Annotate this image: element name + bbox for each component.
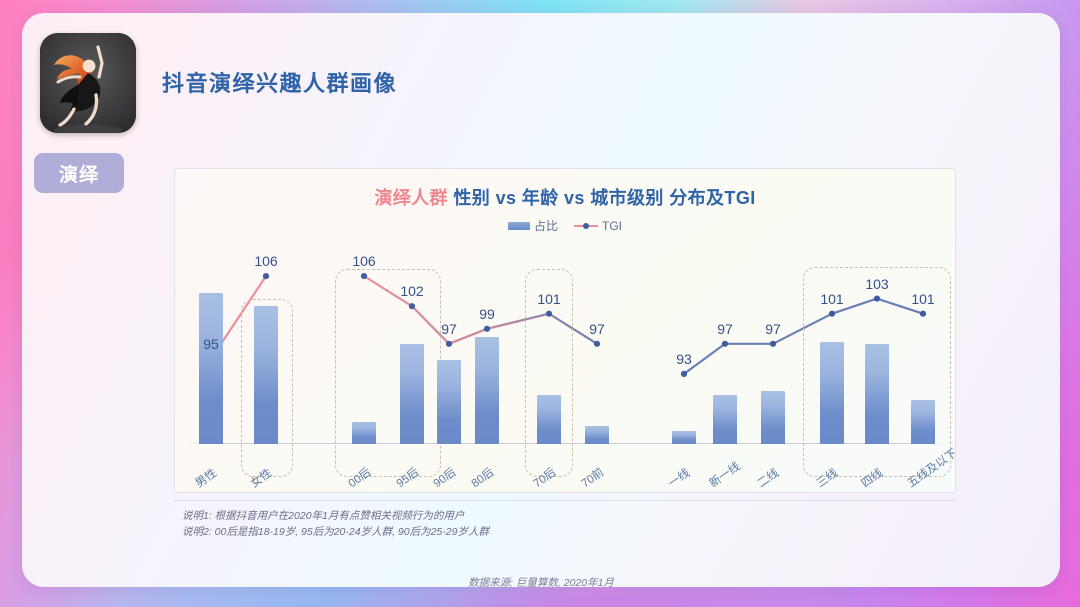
tgi-point-四线[interactable] [874,296,880,302]
x-axis-label-90后: 90后 [430,464,459,491]
chart-title-rest: 性别 vs 年龄 vs 城市级别 分布及TGI [453,188,755,208]
x-axis-label-四线: 四线 [858,465,886,491]
bar-新一线[interactable] [713,395,737,444]
tgi-value-label-新一线: 97 [717,321,733,337]
bar-95后[interactable] [400,344,424,444]
x-axis-label-一线: 一线 [665,465,693,491]
x-axis-label-男性: 男性 [192,465,220,491]
bar-70前[interactable] [585,426,609,444]
tgi-value-label-四线: 103 [865,276,888,292]
tgi-point-70后[interactable] [546,311,552,317]
x-axis-label-新一线: 新一线 [706,458,743,491]
category-tag: 演绎 [34,153,124,193]
tgi-value-label-二线: 97 [765,321,781,337]
bar-五线及以下[interactable] [911,400,935,444]
data-source: 数据来源: 巨量算数, 2020年1月 [22,575,1060,587]
tgi-point-70前[interactable] [594,341,600,347]
x-axis-label-00后: 00后 [345,464,374,491]
tgi-value-label-五线及以下: 101 [911,291,934,307]
tgi-value-label-70前: 97 [589,321,605,337]
bar-swatch-icon [508,222,530,230]
bar-二线[interactable] [761,391,785,444]
tgi-value-label-00后: 106 [352,253,375,269]
x-axis-label-女性: 女性 [247,465,275,491]
dancer-thumbnail [40,33,136,133]
legend-item-share[interactable]: 占比 [508,217,558,234]
tgi-point-二线[interactable] [770,341,776,347]
tgi-value-label-一线: 93 [676,351,692,367]
legend-item-tgi[interactable]: TGI [574,219,622,233]
x-axis-label-70前: 70前 [578,464,607,491]
chart-panel: 演绎人群 性别 vs 年龄 vs 城市级别 分布及TGI 占比 TGI 9510… [174,168,956,493]
slide-card: 演绎 抖音演绎兴趣人群画像 演绎人群 性别 vs 年龄 vs 城市级别 分布及T… [22,13,1060,587]
x-axis-label-三线: 三线 [813,465,841,491]
note-line-1: 说明1: 根据抖音用户在2020年1月有点赞相关视频行为的用户 [182,508,489,524]
chart-title-highlight: 演绎人群 [374,188,448,208]
tgi-point-新一线[interactable] [722,341,728,347]
bar-男性[interactable] [199,293,223,444]
tgi-point-三线[interactable] [829,311,835,317]
chart-title: 演绎人群 性别 vs 年龄 vs 城市级别 分布及TGI [175,184,955,210]
bar-00后[interactable] [352,422,376,444]
tgi-value-label-70后: 101 [537,291,560,307]
tgi-value-label-三线: 101 [820,291,843,307]
tgi-value-label-80后: 99 [479,306,495,322]
tgi-point-80后[interactable] [484,326,490,332]
x-axis-label-五线及以下: 五线及以下 [904,445,960,491]
tgi-value-label-女性: 106 [254,253,277,269]
plot-area: 95106106102979910197939797101103101男性女性0… [187,239,945,491]
legend-label-tgi: TGI [602,219,622,233]
line-swatch-icon [574,221,598,231]
bar-三线[interactable] [820,342,844,444]
tgi-point-90后[interactable] [446,341,452,347]
chart-notes: 说明1: 根据抖音用户在2020年1月有点赞相关视频行为的用户 说明2: 00后… [182,508,489,541]
note-line-2: 说明2: 00后是指18-19岁, 95后为20-24岁人群, 90后为25-2… [182,524,489,540]
bar-80后[interactable] [475,337,499,444]
tgi-point-一线[interactable] [681,371,687,377]
bar-一线[interactable] [672,431,696,444]
x-axis-label-二线: 二线 [754,465,782,491]
notes-divider [174,500,956,501]
page-title: 抖音演绎兴趣人群画像 [162,66,397,98]
x-axis-label-70后: 70后 [530,464,559,491]
tgi-point-五线及以下[interactable] [920,311,926,317]
tgi-value-label-男性: 95 [203,336,219,352]
x-axis-label-80后: 80后 [468,464,497,491]
legend-label-share: 占比 [534,217,558,234]
tgi-point-女性[interactable] [263,273,269,279]
tgi-value-label-90后: 97 [441,321,457,337]
tgi-value-label-95后: 102 [400,283,423,299]
tgi-point-95后[interactable] [409,303,415,309]
chart-legend: 占比 TGI [175,217,955,234]
bar-四线[interactable] [865,344,889,444]
bar-女性[interactable] [254,306,278,444]
bar-90后[interactable] [437,360,461,444]
tgi-point-00后[interactable] [361,273,367,279]
bar-70后[interactable] [537,395,561,444]
x-axis-label-95后: 95后 [393,464,422,491]
